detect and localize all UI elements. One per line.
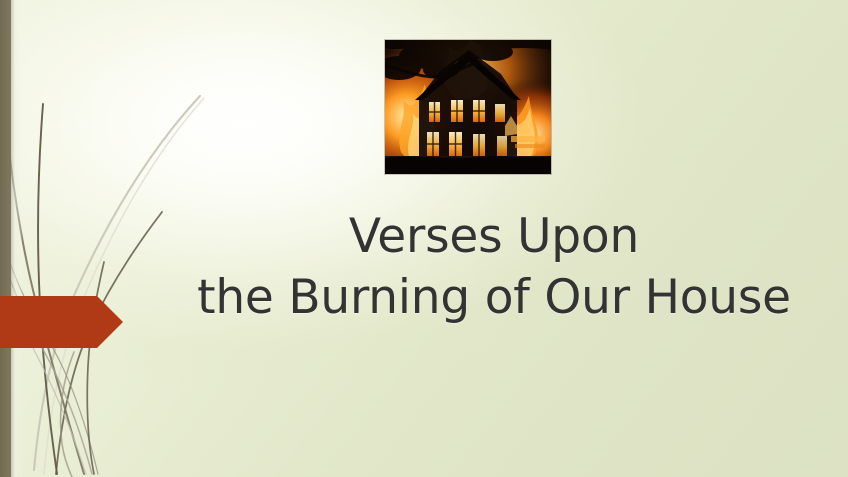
title-slide: Verses Upon the Burning of Our House (0, 0, 848, 477)
page-title: Verses Upon the Burning of Our House (120, 207, 848, 327)
left-gutter (11, 0, 22, 477)
left-olive-stripe (0, 0, 11, 477)
title-line-1: Verses Upon (120, 207, 848, 266)
title-line-2: the Burning of Our House (120, 268, 848, 327)
burning-house-illustration (385, 40, 551, 174)
burning-house-photo (385, 40, 551, 174)
